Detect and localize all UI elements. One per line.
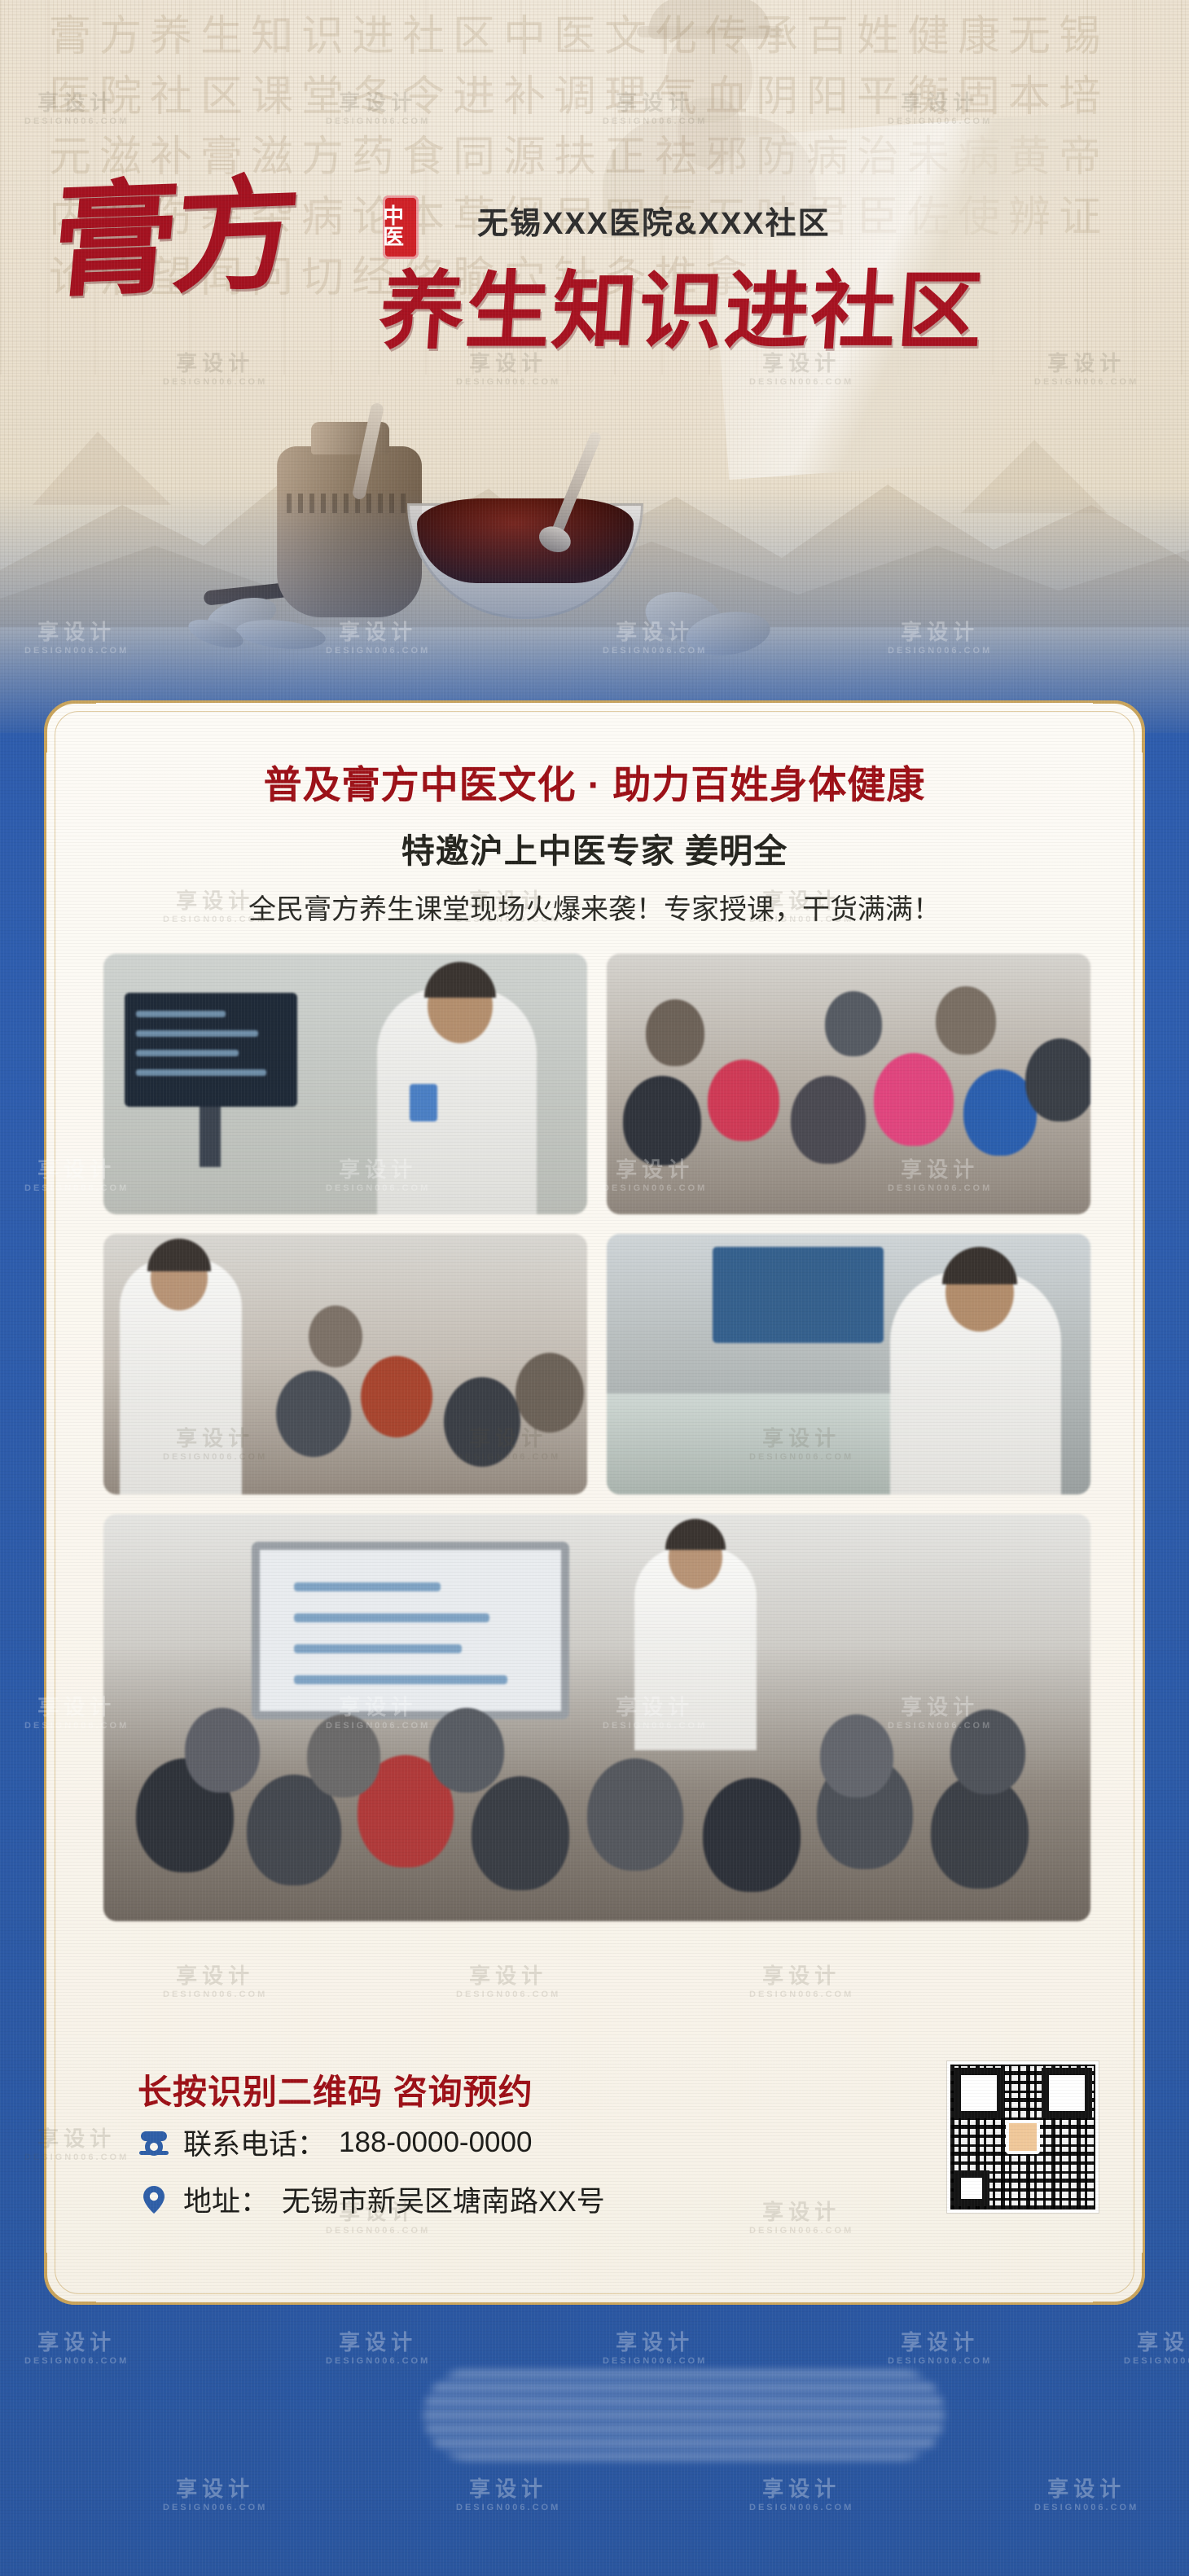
telephone-icon bbox=[138, 2126, 170, 2159]
phone-label: 联系电话： bbox=[183, 2122, 326, 2163]
audience-head bbox=[472, 1776, 569, 1890]
exam-bed bbox=[607, 1393, 900, 1494]
audience-head bbox=[444, 1377, 520, 1467]
audience-head bbox=[587, 1758, 683, 1871]
hospital-name: 无锡XXX医院&XXX社区 bbox=[477, 198, 831, 243]
audience-head bbox=[950, 1709, 1025, 1794]
audience-head bbox=[646, 999, 704, 1066]
audience-head bbox=[936, 986, 996, 1055]
watermark: 享设计DESIGN006.COM bbox=[1124, 2329, 1189, 2367]
card-headline: 普及膏方中医文化 · 助力百姓身体健康 bbox=[46, 753, 1143, 810]
watermark: 享设计DESIGN006.COM bbox=[24, 2329, 129, 2367]
audience-head bbox=[276, 1371, 351, 1457]
photo-row-3 bbox=[103, 1514, 1090, 1921]
audience-head bbox=[874, 1053, 954, 1146]
watermark: 享设计DESIGN006.COM bbox=[749, 2476, 853, 2513]
photo-classroom-wide bbox=[103, 1514, 1090, 1921]
screen-stand bbox=[200, 1107, 221, 1167]
audience-head bbox=[307, 1714, 380, 1797]
projection-board bbox=[252, 1542, 569, 1719]
audience-head bbox=[185, 1708, 260, 1793]
photo-row-1 bbox=[103, 954, 1090, 1214]
photo-audience-seated bbox=[607, 954, 1090, 1214]
qr-code[interactable] bbox=[947, 2061, 1099, 2213]
audience-head bbox=[1025, 1038, 1090, 1121]
card-expert-line: 特邀沪上中医专家 姜明全 bbox=[46, 823, 1143, 872]
ghost-doctor-illustration bbox=[570, 0, 847, 220]
tcm-seal-stamp: 中医 bbox=[383, 195, 419, 259]
audience-head bbox=[309, 1306, 362, 1367]
audience-head bbox=[820, 1714, 893, 1797]
qr-code-pattern bbox=[950, 2065, 1095, 2210]
card-corner-bottom-left bbox=[44, 2253, 96, 2305]
presentation-screen bbox=[125, 993, 297, 1107]
photo-doctor-speaking-to-class bbox=[103, 1234, 587, 1494]
content-card: 普及膏方中医文化 · 助力百姓身体健康 特邀沪上中医专家 姜明全 全民膏方养生课… bbox=[44, 700, 1145, 2305]
contact-address-row: 地址： 无锡市新吴区塘南路XX号 bbox=[138, 2179, 605, 2220]
banner-blue-fade bbox=[0, 489, 1189, 733]
poster-root: 膏方养生知识进社区中医文化传承百姓健康无锡医院社区课堂冬令进补调理气血阴阳平衡固… bbox=[0, 0, 1189, 2576]
doctor-hair bbox=[665, 1519, 726, 1550]
brush-calligraphy-title: 膏方 bbox=[48, 172, 301, 304]
watermark: 享设计DESIGN006.COM bbox=[1034, 2476, 1139, 2513]
card-description: 全民膏方养生课堂现场火爆来袭！专家授课，干货满满！ bbox=[46, 887, 1143, 927]
qr-finder-pattern bbox=[954, 2170, 989, 2206]
qr-cta-text: 长按识别二维码 咨询预约 bbox=[138, 2065, 533, 2114]
audience-head bbox=[429, 1708, 504, 1793]
audience-head bbox=[825, 991, 882, 1056]
audience-head bbox=[708, 1060, 779, 1141]
card-corner-bottom-right bbox=[1093, 2253, 1145, 2305]
photo-doctor-presenting bbox=[103, 954, 587, 1214]
doctor-id-badge bbox=[410, 1084, 437, 1121]
contact-phone-row: 联系电话： 188-0000-0000 bbox=[138, 2122, 532, 2163]
audience-head bbox=[361, 1356, 432, 1437]
watermark: 享设计DESIGN006.COM bbox=[603, 2329, 707, 2367]
watermark: 享设计DESIGN006.COM bbox=[888, 2329, 992, 2367]
watermark: 享设计DESIGN006.COM bbox=[326, 2329, 430, 2367]
audience-head bbox=[623, 1076, 701, 1165]
photo-row-2 bbox=[103, 1234, 1090, 1494]
doctor-hair bbox=[424, 962, 496, 998]
doctor-hair bbox=[147, 1239, 211, 1271]
top-parchment-banner: 膏方养生知识进社区中医文化传承百姓健康无锡医院社区课堂冬令进补调理气血阴阳平衡固… bbox=[0, 0, 1189, 733]
doctor-hair bbox=[942, 1247, 1017, 1284]
photo-gallery bbox=[103, 954, 1090, 1941]
photo-doctor-consulting bbox=[607, 1234, 1090, 1494]
audience-head bbox=[703, 1778, 801, 1892]
watermark: 享设计DESIGN006.COM bbox=[163, 2476, 267, 2513]
address-value: 无锡市新吴区塘南路XX号 bbox=[282, 2179, 605, 2220]
qr-center-logo bbox=[1006, 2120, 1040, 2154]
poster-subtitle: 养生知识进社区 bbox=[376, 269, 986, 353]
wall-screen bbox=[713, 1247, 884, 1343]
watermark: 享设计DESIGN006.COM bbox=[456, 2476, 560, 2513]
phone-value: 188-0000-0000 bbox=[339, 2126, 532, 2159]
audience-head bbox=[516, 1353, 584, 1433]
location-pin-icon bbox=[138, 2183, 170, 2216]
bottom-light-reflection bbox=[423, 2370, 945, 2460]
audience-head bbox=[791, 1076, 866, 1164]
address-label: 地址： bbox=[183, 2179, 269, 2220]
